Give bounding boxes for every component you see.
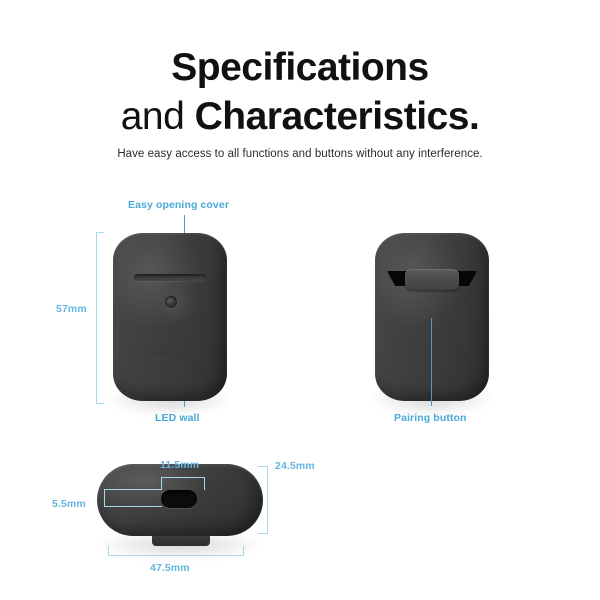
page-title-emphasis: Characteristics. xyxy=(195,95,480,138)
dimension-bracket-port-height-bottom xyxy=(104,506,162,508)
page-title-prefix: and xyxy=(121,95,195,138)
dimension-bracket-width-line xyxy=(108,555,244,557)
page-subtitle: Have easy access to all functions and bu… xyxy=(0,148,600,160)
dimension-label-width: 47.5mm xyxy=(150,562,190,574)
back-view-case-body xyxy=(375,233,489,401)
page-title-line-2: and Characteristics. xyxy=(0,97,600,136)
front-view-brand-emboss: elago xyxy=(113,345,227,357)
dimension-bracket-depth-cap-bottom xyxy=(258,533,268,535)
front-view-led-halo xyxy=(157,289,199,323)
dimension-label-port-height: 5.5mm xyxy=(52,498,86,510)
dimension-bracket-depth-line xyxy=(267,466,269,534)
callout-leader-pairing-button xyxy=(431,318,432,406)
dimension-bracket-width-cap-right xyxy=(243,546,245,556)
dimension-bracket-height-cap-bottom xyxy=(96,403,104,405)
back-view-hinge-bar xyxy=(405,269,459,290)
callout-label-pairing-button: Pairing button xyxy=(394,412,467,424)
front-view-case-body: elago xyxy=(113,233,227,401)
dimension-label-port-width: 11.5mm xyxy=(160,459,199,471)
dimension-bracket-port-width-right xyxy=(204,477,206,490)
front-view-led-indicator xyxy=(165,296,177,308)
dimension-label-height: 57mm xyxy=(56,303,87,315)
callout-label-easy-opening-cover: Easy opening cover xyxy=(128,199,229,211)
front-view-lid-seam xyxy=(134,274,206,281)
page-title-line-1: Specifications xyxy=(0,48,600,87)
dimension-bracket-port-width-top xyxy=(161,477,205,479)
bottom-view-charging-port xyxy=(161,490,197,508)
dimension-bracket-port-height-top xyxy=(104,489,162,491)
bottom-view-case-body xyxy=(97,464,263,536)
dimension-label-depth: 24.5mm xyxy=(275,460,315,472)
dimension-bracket-port-height-line xyxy=(104,489,106,507)
dimension-bracket-height-line xyxy=(96,232,98,404)
